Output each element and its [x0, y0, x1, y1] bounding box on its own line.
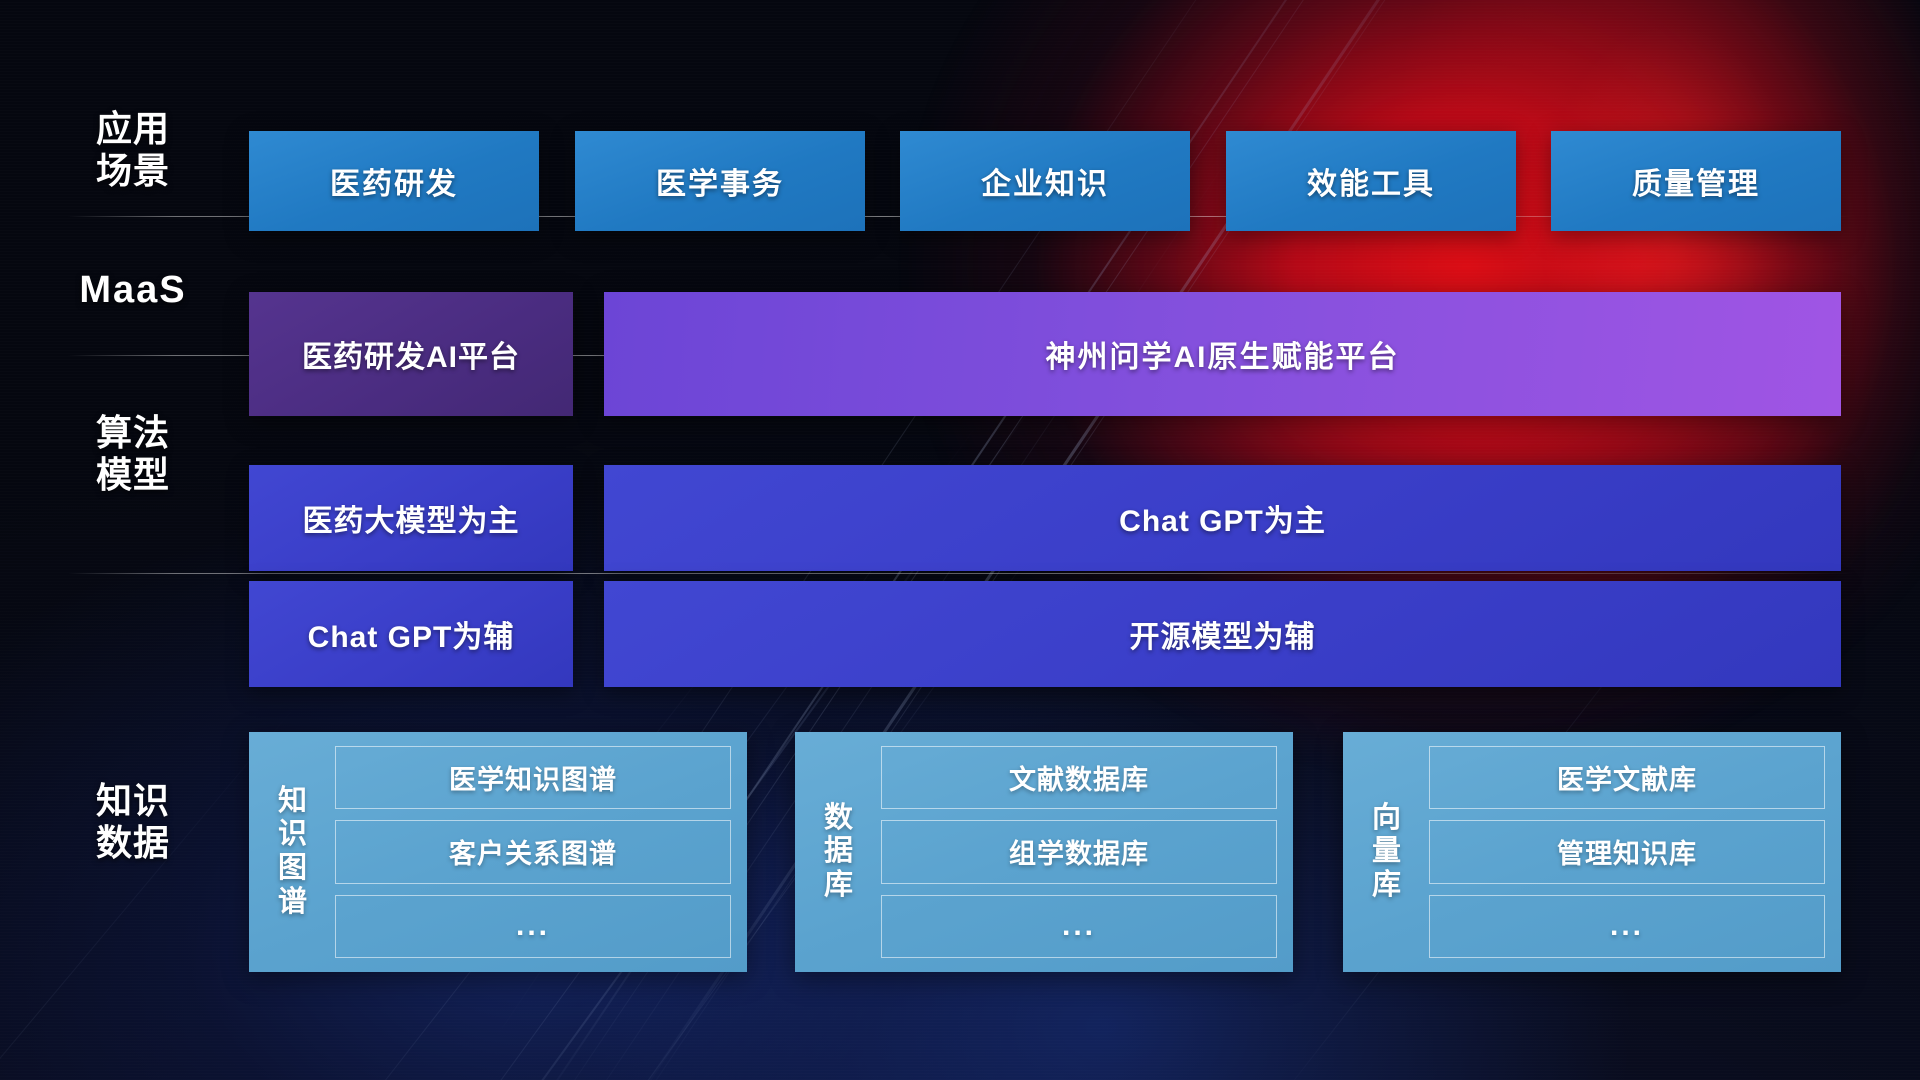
app-scenario-card-1[interactable]: 医药研发 — [249, 131, 539, 231]
knowledge-chip-more[interactable]: ... — [881, 895, 1277, 958]
knowledge-chip[interactable]: 医学知识图谱 — [335, 746, 731, 809]
knowledge-panel-graph[interactable]: 知识图谱 医学知识图谱 客户关系图谱 ... — [249, 732, 747, 972]
knowledge-chip[interactable]: 客户关系图谱 — [335, 820, 731, 883]
algo-model-card-secondary-right[interactable]: 开源模型为辅 — [604, 581, 1841, 687]
row-separator-3 — [68, 573, 1854, 574]
app-scenario-card-3[interactable]: 企业知识 — [900, 131, 1190, 231]
knowledge-panel-vectorstore[interactable]: 向量库 医学文献库 管理知识库 ... — [1343, 732, 1841, 972]
row-label-algorithm: 算法 模型 — [68, 412, 198, 497]
app-scenario-card-5[interactable]: 质量管理 — [1551, 131, 1841, 231]
maas-platform-card-right[interactable]: 神州问学AI原生赋能平台 — [604, 292, 1841, 416]
row-label-knowledge: 知识 数据 — [68, 780, 198, 865]
knowledge-panel-database[interactable]: 数据库 文献数据库 组学数据库 ... — [795, 732, 1293, 972]
app-scenario-label: 医学事务 — [656, 159, 784, 203]
app-scenario-card-4[interactable]: 效能工具 — [1226, 131, 1516, 231]
knowledge-chip-list: 文献数据库 组学数据库 ... — [881, 746, 1277, 958]
algo-model-label: 医药大模型为主 — [303, 496, 520, 540]
knowledge-chip[interactable]: 医学文献库 — [1429, 746, 1825, 809]
row-label-application: 应用 场景 — [68, 108, 198, 193]
knowledge-chip[interactable]: 文献数据库 — [881, 746, 1277, 809]
knowledge-chip-more[interactable]: ... — [1429, 895, 1825, 958]
app-scenario-card-2[interactable]: 医学事务 — [575, 131, 865, 231]
maas-platform-label: 神州问学AI原生赋能平台 — [1046, 332, 1400, 376]
algo-model-label: Chat GPT为辅 — [308, 612, 515, 656]
algo-model-card-secondary-left[interactable]: Chat GPT为辅 — [249, 581, 573, 687]
app-scenario-label: 医药研发 — [330, 159, 458, 203]
algo-model-card-primary-right[interactable]: Chat GPT为主 — [604, 465, 1841, 571]
algo-model-label: 开源模型为辅 — [1130, 612, 1316, 656]
maas-platform-label: 医药研发AI平台 — [302, 332, 520, 376]
knowledge-panel-title: 数据库 — [811, 802, 867, 903]
knowledge-chip-list: 医学文献库 管理知识库 ... — [1429, 746, 1825, 958]
app-scenario-label: 企业知识 — [981, 159, 1109, 203]
knowledge-chip-list: 医学知识图谱 客户关系图谱 ... — [335, 746, 731, 958]
knowledge-panel-title: 向量库 — [1359, 802, 1415, 903]
row-label-maas: MaaS — [68, 268, 198, 313]
app-scenario-label: 质量管理 — [1632, 159, 1760, 203]
app-scenario-label: 效能工具 — [1307, 159, 1435, 203]
maas-platform-card-left[interactable]: 医药研发AI平台 — [249, 292, 573, 416]
algo-model-card-primary-left[interactable]: 医药大模型为主 — [249, 465, 573, 571]
knowledge-panel-title: 知识图谱 — [265, 785, 321, 920]
algo-model-label: Chat GPT为主 — [1119, 496, 1326, 540]
knowledge-chip[interactable]: 管理知识库 — [1429, 820, 1825, 883]
knowledge-chip[interactable]: 组学数据库 — [881, 820, 1277, 883]
knowledge-chip-more[interactable]: ... — [335, 895, 731, 958]
